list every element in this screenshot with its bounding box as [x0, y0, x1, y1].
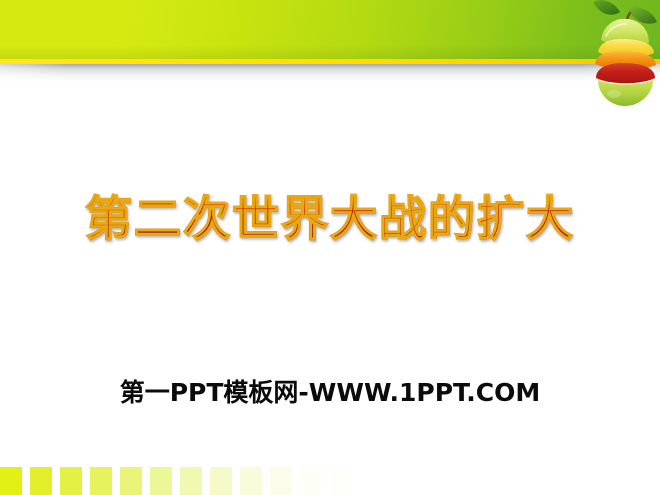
decorative-square-3	[60, 467, 82, 495]
decorative-square-4	[90, 467, 112, 495]
decorative-square-6	[150, 467, 172, 495]
bottom-square-strip	[0, 467, 660, 495]
footer-container: 第一PPT模板网-WWW.1PPT.COM	[0, 378, 660, 408]
decorative-square-2	[30, 467, 52, 495]
decorative-square-9	[240, 467, 262, 495]
decorative-square-5	[120, 467, 142, 495]
presentation-slide: 第二次世界大战的扩大 第一PPT模板网-WWW.1PPT.COM	[0, 0, 660, 495]
decorative-square-1	[0, 467, 22, 495]
decorative-square-11	[300, 467, 322, 495]
decorative-square-10	[270, 467, 292, 495]
footer-watermark-text: 第一PPT模板网-WWW.1PPT.COM	[120, 378, 541, 408]
decorative-square-7	[180, 467, 202, 495]
decorative-square-12	[330, 467, 352, 495]
fruit-stack-icon	[592, 0, 660, 110]
title-container: 第二次世界大战的扩大	[0, 160, 660, 281]
slide-title: 第二次世界大战的扩大	[85, 191, 575, 249]
decorative-square-8	[210, 467, 232, 495]
header-drop-shadow	[0, 64, 660, 86]
header-green-band	[0, 0, 660, 59]
